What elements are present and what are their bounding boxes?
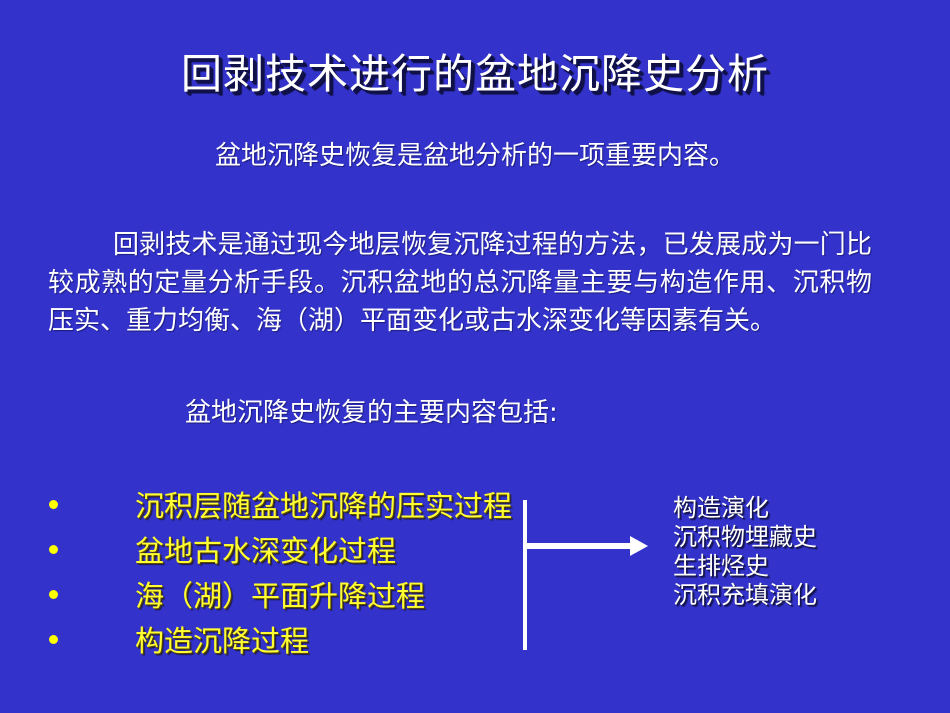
outcome-item: 沉积物埋藏史 <box>673 523 933 552</box>
arrow-head-icon <box>630 536 648 556</box>
list-item-label: 沉积层随盆地沉降的压实过程 <box>135 488 512 524</box>
bullet-dot-icon <box>49 635 58 644</box>
list-item: 构造沉降过程 <box>40 623 540 668</box>
outcome-item: 沉积充填演化 <box>673 581 933 610</box>
bullet-list: 沉积层随盆地沉降的压实过程 盆地古水深变化过程 海（湖）平面升降过程 构造沉降过… <box>40 488 540 668</box>
list-item: 盆地古水深变化过程 <box>40 533 540 578</box>
intro-sentence: 盆地沉降史恢复是盆地分析的一项重要内容。 <box>0 139 950 173</box>
list-item: 沉积层随盆地沉降的压实过程 <box>40 488 540 533</box>
list-item-label: 构造沉降过程 <box>135 623 309 659</box>
list-item-label: 盆地古水深变化过程 <box>135 533 396 569</box>
list-item-label: 海（湖）平面升降过程 <box>135 578 425 614</box>
body-paragraph: 回剥技术是通过现今地层恢复沉降过程的方法，已发展成为一门比较成熟的定量分析手段。… <box>48 226 872 340</box>
outcome-item: 生排烃史 <box>673 552 933 581</box>
list-item: 海（湖）平面升降过程 <box>40 578 540 623</box>
presentation-slide: 回剥技术进行的盆地沉降史分析 盆地沉降史恢复是盆地分析的一项重要内容。 回剥技术… <box>0 0 950 713</box>
outcome-list: 构造演化 沉积物埋藏史 生排烃史 沉积充填演化 <box>673 494 933 610</box>
bullet-dot-icon <box>49 545 58 554</box>
bullet-dot-icon <box>49 500 58 509</box>
outcome-item: 构造演化 <box>673 494 933 523</box>
bullet-dot-icon <box>49 590 58 599</box>
list-intro-sentence: 盆地沉降史恢复的主要内容包括: <box>185 396 558 430</box>
page-title: 回剥技术进行的盆地沉降史分析 <box>0 48 950 100</box>
